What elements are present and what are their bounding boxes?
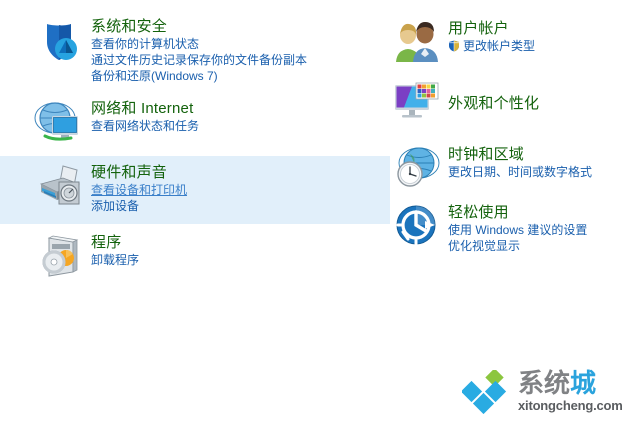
category-link[interactable]: 使用 Windows 建议的设置: [448, 222, 626, 238]
category-title[interactable]: 时钟和区域: [448, 145, 626, 164]
category-text-block: 系统和安全 查看你的计算机状态 通过文件历史记录保存你的文件备份副本 备份和还原…: [85, 16, 390, 84]
category-text-block: 程序 卸载程序: [85, 232, 390, 268]
watermark-cn-accent: 城: [570, 368, 596, 398]
category-text-block: 网络和 Internet 查看网络状态和任务: [85, 98, 390, 134]
category-programs[interactable]: 程序 卸载程序: [0, 228, 390, 286]
watermark-cn-gray: 系统: [518, 368, 570, 398]
security-shield-icon: [33, 16, 85, 66]
category-text-block: 硬件和声音 查看设备和打印机 添加设备: [85, 162, 390, 214]
network-globe-monitor-icon: [33, 98, 85, 148]
category-text-block: 时钟和区域 更改日期、时间或数字格式: [442, 144, 626, 180]
left-category-column: 系统和安全 查看你的计算机状态 通过文件历史记录保存你的文件备份副本 备份和还原…: [0, 0, 390, 286]
category-system-and-security[interactable]: 系统和安全 查看你的计算机状态 通过文件历史记录保存你的文件备份副本 备份和还原…: [0, 12, 390, 88]
category-link[interactable]: 备份和还原(Windows 7): [91, 68, 390, 84]
category-link[interactable]: 卸载程序: [91, 252, 390, 268]
category-title[interactable]: 系统和安全: [91, 17, 390, 36]
category-link[interactable]: 优化视觉显示: [448, 238, 626, 254]
category-link[interactable]: 更改日期、时间或数字格式: [448, 164, 626, 180]
category-title[interactable]: 硬件和声音: [91, 163, 390, 182]
ease-of-access-icon: [392, 202, 442, 248]
watermark-chinese-text: 系统城: [518, 368, 596, 398]
category-title[interactable]: 网络和 Internet: [91, 99, 390, 118]
category-link[interactable]: 查看你的计算机状态: [91, 36, 390, 52]
monitor-palette-icon: [392, 80, 442, 126]
four-diamonds-logo: [462, 370, 514, 414]
category-link-hovered[interactable]: 查看设备和打印机: [91, 182, 390, 198]
category-network-and-internet[interactable]: 网络和 Internet 查看网络状态和任务: [0, 94, 390, 152]
category-text-block: 外观和个性化: [442, 93, 626, 113]
category-appearance-and-personalization[interactable]: 外观和个性化: [386, 76, 626, 130]
category-ease-of-access[interactable]: 轻松使用 使用 Windows 建议的设置 优化视觉显示: [386, 198, 626, 258]
category-title[interactable]: 外观和个性化: [448, 94, 626, 113]
category-clock-and-region[interactable]: 时钟和区域 更改日期、时间或数字格式: [386, 140, 626, 194]
category-link[interactable]: 通过文件历史记录保存你的文件备份副本: [91, 52, 390, 68]
globe-clock-icon: [392, 144, 442, 190]
software-box-cd-icon: [33, 232, 85, 282]
category-title[interactable]: 程序: [91, 233, 390, 252]
category-title[interactable]: 轻松使用: [448, 203, 626, 222]
category-text-block: 轻松使用 使用 Windows 建议的设置 优化视觉显示: [442, 202, 626, 254]
control-panel-category-view: 系统和安全 查看你的计算机状态 通过文件历史记录保存你的文件备份副本 备份和还原…: [0, 0, 626, 423]
category-link[interactable]: 添加设备: [91, 198, 390, 214]
category-user-accounts[interactable]: 用户帐户 更改帐户类型: [386, 14, 626, 68]
right-category-column: 用户帐户 更改帐户类型: [386, 0, 626, 258]
category-link[interactable]: 查看网络状态和任务: [91, 118, 390, 134]
category-link-label: 更改帐户类型: [463, 38, 535, 54]
printer-speaker-icon: [33, 162, 85, 212]
category-title[interactable]: 用户帐户: [448, 19, 626, 38]
site-watermark: 系统城 xitongcheng.com: [462, 368, 622, 418]
watermark-domain: xitongcheng.com: [518, 398, 623, 413]
category-text-block: 用户帐户 更改帐户类型: [442, 18, 626, 54]
category-link[interactable]: 更改帐户类型: [448, 38, 626, 54]
two-users-icon: [392, 18, 442, 64]
category-hardware-and-sound[interactable]: 硬件和声音 查看设备和打印机 添加设备: [0, 156, 390, 224]
uac-shield-icon: [448, 40, 460, 52]
